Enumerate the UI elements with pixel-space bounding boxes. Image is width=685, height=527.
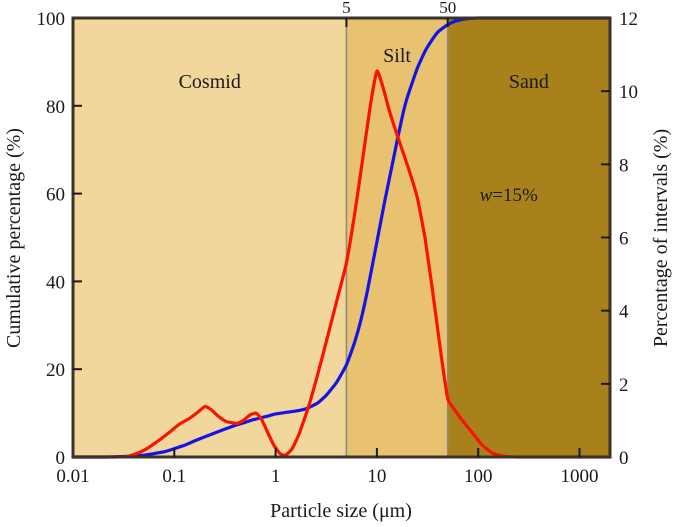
particle-size-distribution-figure: 0.010.11101001000 020406080100 024681012… [0,0,685,527]
y-right-tick-label: 0 [619,448,629,469]
x-axis-title: Particle size (μm) [270,500,412,522]
x-tick-label: 1000 [561,466,599,487]
top-tick-label: 5 [342,0,351,17]
zone-label-sand: Sand [509,71,549,93]
y-left-tick-label: 40 [46,272,65,293]
y-right-tick-label: 10 [619,82,638,103]
y-right-tick-label: 12 [619,9,638,30]
zone-band-silt [346,18,447,457]
chart-canvas: 0.010.11101001000 020406080100 024681012… [0,0,685,527]
y-left-tick-label: 0 [56,448,66,469]
top-tick-label: 50 [439,0,456,17]
x-tick-label: 100 [464,466,493,487]
y-left-tick-label: 60 [46,185,65,206]
y-right-axis-title: Percentage of intervals (%) [650,129,672,347]
y-left-axis-tick-labels: 020406080100 [37,9,66,469]
y-left-tick-label: 100 [37,9,66,30]
y-right-tick-label: 6 [619,229,629,250]
x-tick-label: 0.01 [56,466,89,487]
x-tick-label: 1 [271,466,281,487]
y-right-tick-label: 2 [619,375,629,396]
y-right-axis-tick-labels: 024681012 [619,9,638,469]
x-axis-tick-labels: 0.010.11101001000 [56,466,598,487]
y-right-tick-label: 8 [619,155,629,176]
zone-label-cosmid: Cosmid [179,71,241,93]
zone-label-silt: Silt [383,45,411,67]
y-right-tick-label: 4 [619,302,629,323]
y-left-axis-title: Cumulative percentage (%) [3,128,25,348]
x-tick-label: 0.1 [162,466,186,487]
top-axis-tick-labels: 550 [342,0,456,17]
x-tick-label: 10 [367,466,386,487]
y-left-tick-label: 20 [46,360,65,381]
y-left-tick-label: 80 [46,97,65,118]
water-content-annotation: w=15% [480,185,538,206]
